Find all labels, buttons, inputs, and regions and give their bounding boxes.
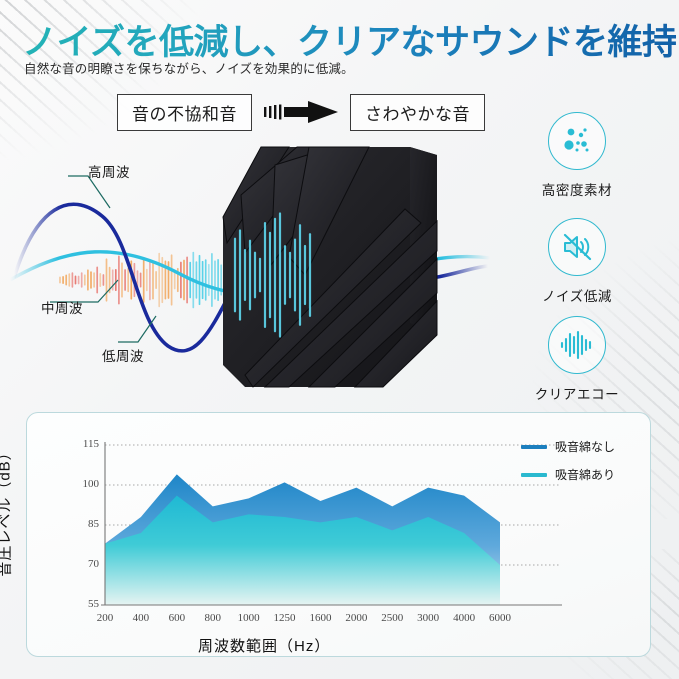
y-tick-label: 85 — [73, 518, 99, 530]
x-tick-label: 600 — [157, 612, 197, 624]
y-axis-title: 音圧レベル（dB） — [0, 444, 15, 576]
x-tick-label: 200 — [85, 612, 125, 624]
y-tick-label: 115 — [73, 438, 99, 450]
x-tick-label: 1600 — [300, 612, 340, 624]
legend-swatch — [521, 445, 547, 449]
x-tick-label: 6000 — [480, 612, 520, 624]
y-tick-label: 100 — [73, 478, 99, 490]
legend-label: 吸音綿なし — [555, 438, 615, 455]
x-tick-label: 2000 — [336, 612, 376, 624]
y-tick-label: 55 — [73, 598, 99, 610]
x-tick-label: 1250 — [265, 612, 305, 624]
x-tick-label: 1000 — [229, 612, 269, 624]
x-axis-title: 周波数範囲（Hz） — [198, 635, 330, 656]
legend-item-with-absorber: 吸音綿あり — [521, 466, 615, 483]
infographic-page: ノイズを低減し、クリアなサウンドを維持 自然な音の明瞭さを保ちながら、ノイズを効… — [0, 0, 679, 679]
sound-pressure-area-chart — [0, 0, 679, 679]
x-tick-label: 800 — [193, 612, 233, 624]
legend-swatch — [521, 473, 547, 477]
x-tick-label: 400 — [121, 612, 161, 624]
x-tick-label: 3000 — [408, 612, 448, 624]
legend-label: 吸音綿あり — [555, 466, 615, 483]
y-tick-label: 70 — [73, 558, 99, 570]
legend-item-no-absorber: 吸音綿なし — [521, 438, 615, 455]
x-tick-label: 2500 — [372, 612, 412, 624]
x-tick-label: 4000 — [444, 612, 484, 624]
